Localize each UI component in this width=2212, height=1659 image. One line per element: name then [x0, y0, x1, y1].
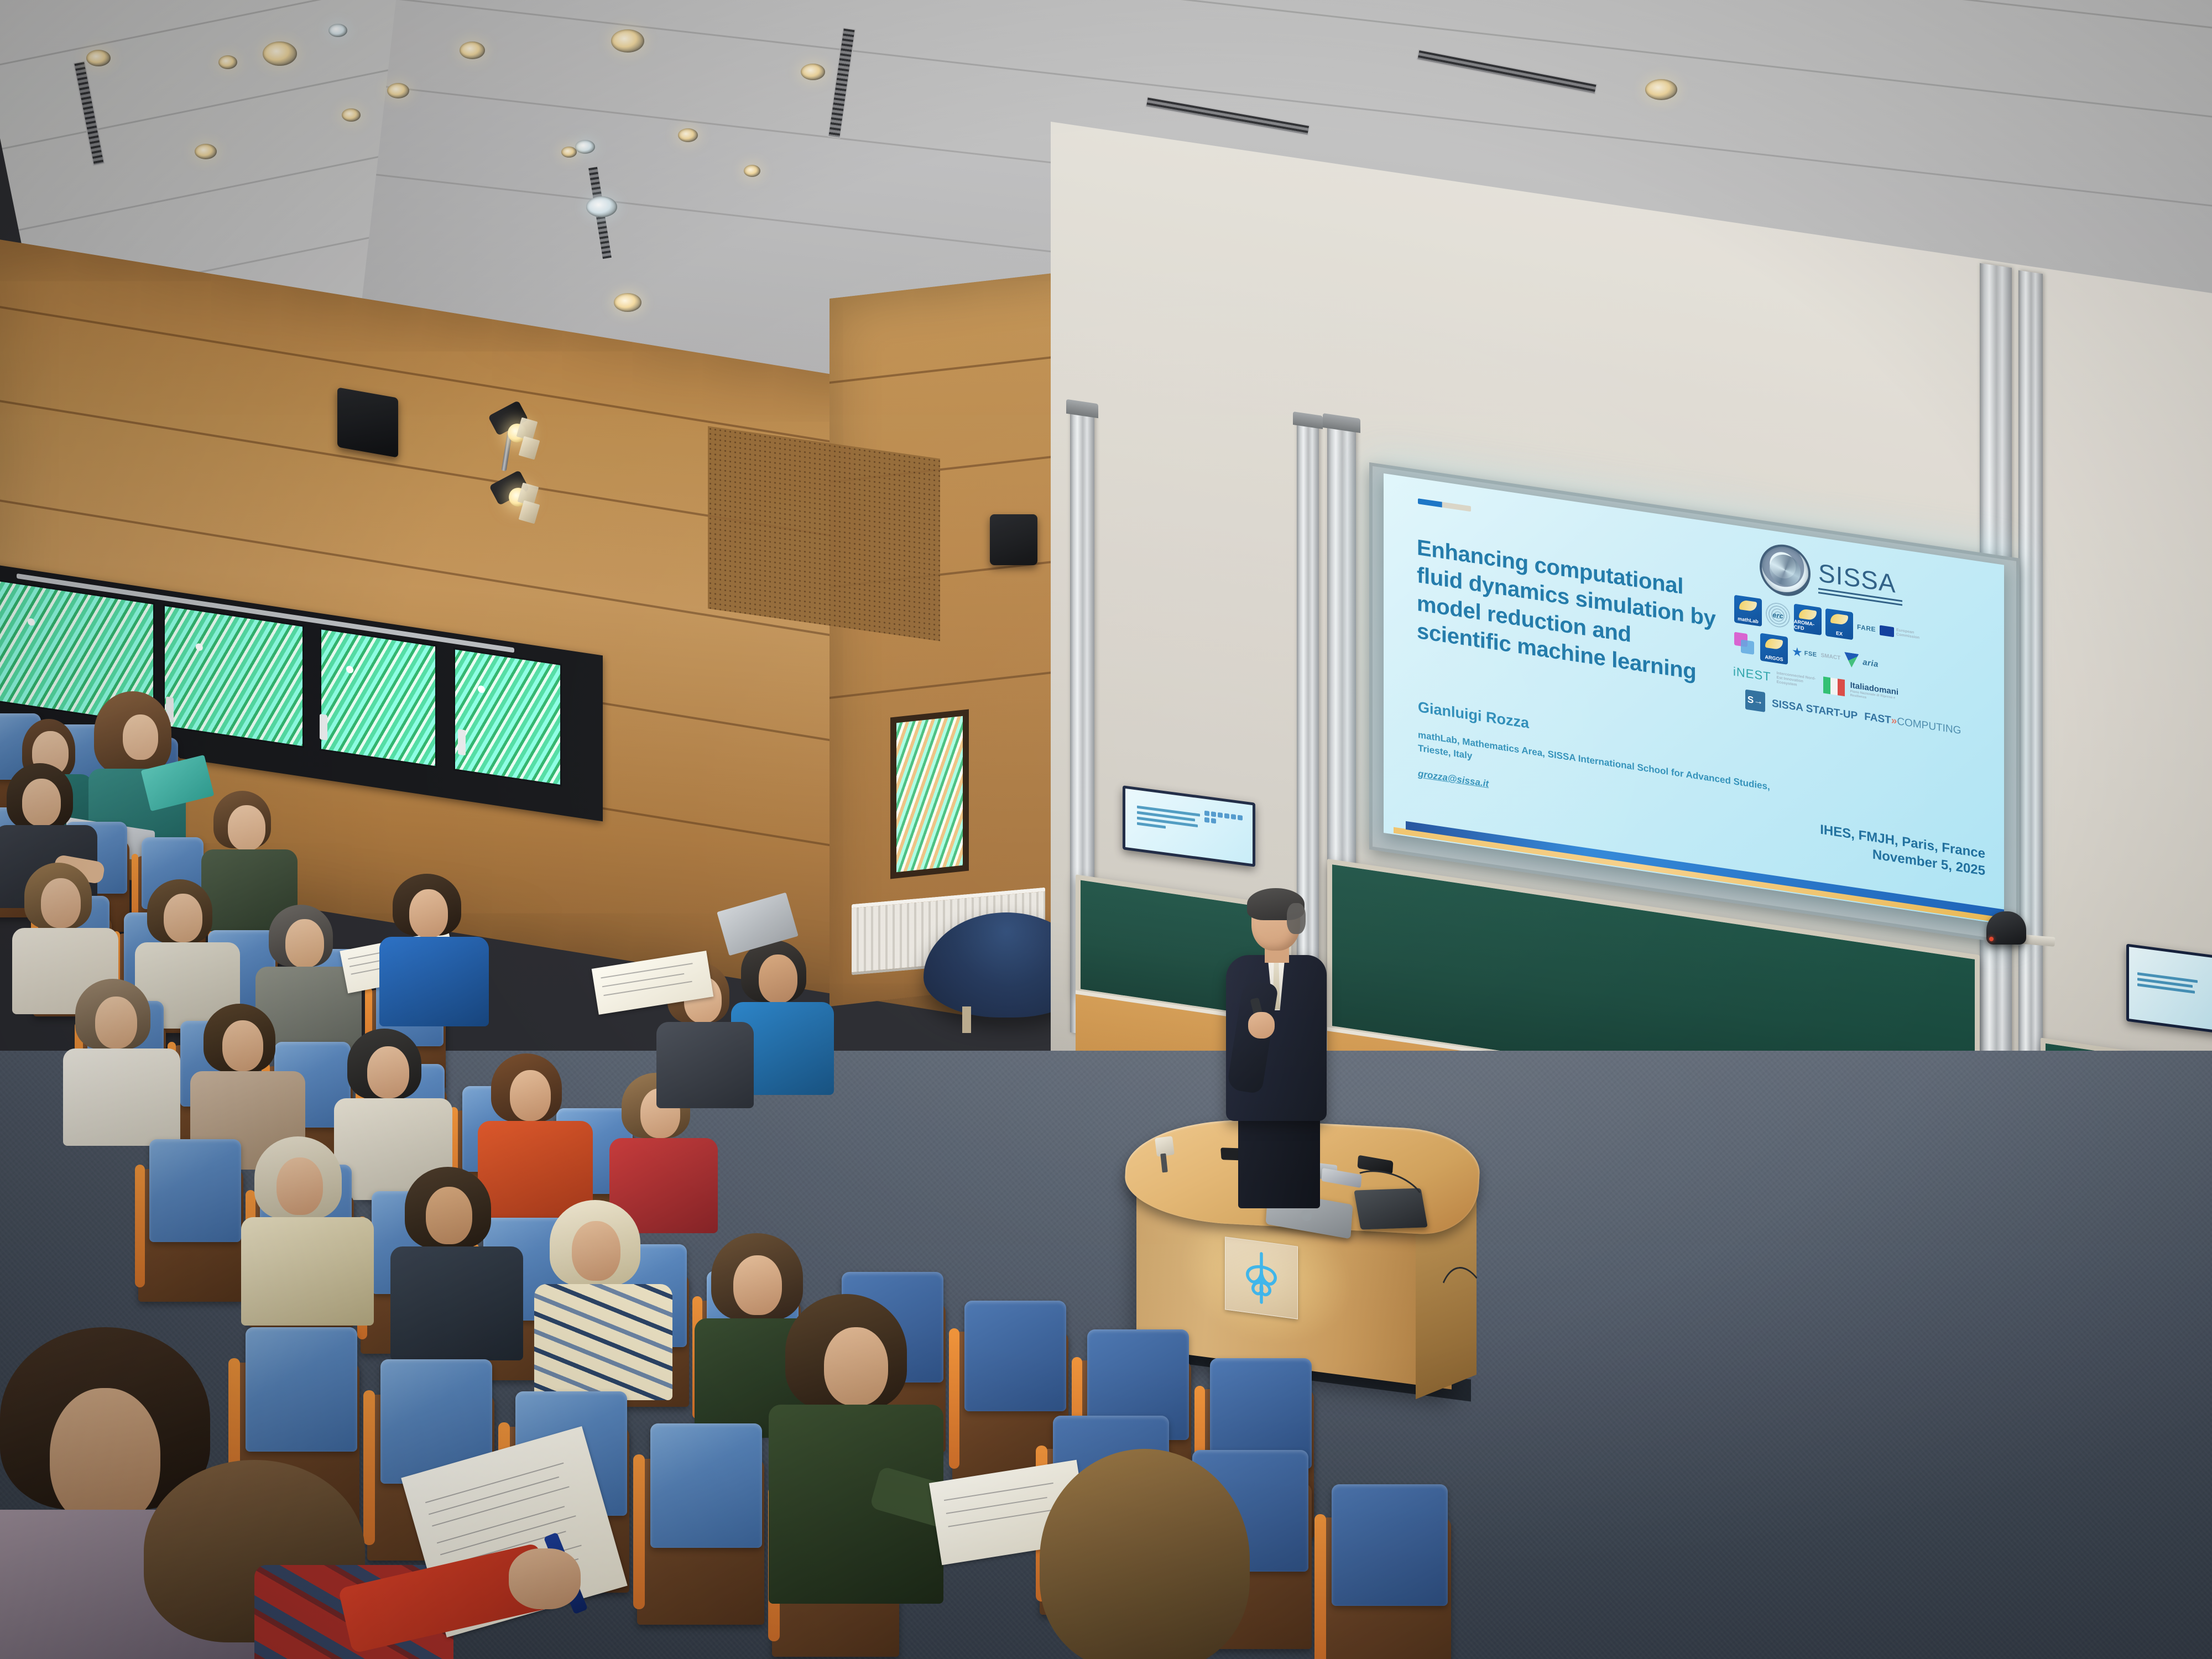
sissa-seal-icon — [1760, 541, 1811, 599]
logo-european-commission: European Commission — [1880, 625, 1926, 641]
logo-aroma-cfd: AROMA-CFD — [1794, 604, 1822, 635]
table-leg — [962, 1006, 971, 1033]
recessed-downlight — [328, 24, 347, 37]
slide-logo-cluster: SISSA mathLab erc AROMA-CFD EX FARE Euro… — [1731, 537, 1991, 746]
audience-member-arm — [343, 1543, 575, 1659]
audience-member-foreground — [763, 1294, 946, 1604]
audience-member — [376, 874, 492, 1029]
logo-sissa-startup: SISSA START-UP — [1772, 698, 1858, 721]
presenter — [1219, 893, 1335, 1203]
mirrored-slide-logos — [1204, 811, 1245, 828]
recessed-downlight — [342, 108, 361, 122]
slide-title: Enhancing computational fluid dynamics s… — [1417, 534, 1726, 691]
recessed-downlight — [1645, 79, 1677, 100]
logo-romsoc — [1734, 632, 1756, 658]
recessed-downlight — [218, 55, 237, 69]
logo-argos: ARGOS — [1760, 633, 1788, 665]
lecture-hall-photo: Enhancing computational fluid dynamics s… — [0, 0, 2212, 1659]
small-window — [890, 709, 969, 879]
logo-erc: erc — [1766, 601, 1790, 629]
audience-member — [387, 1167, 525, 1360]
audience-member — [238, 1136, 376, 1324]
camera-status-led — [1989, 937, 1994, 941]
slide-email[interactable]: grozza@sissa.it — [1418, 768, 1489, 790]
logo-smact: SMACT — [1821, 653, 1841, 662]
confidence-monitor-right — [2126, 943, 2212, 1034]
window-pane — [453, 648, 562, 786]
slide-author: Gianluigi Rozza — [1418, 698, 1529, 732]
recessed-downlight — [801, 64, 825, 80]
fast-chevron-icon: » — [1891, 715, 1897, 728]
wall-speaker — [337, 387, 398, 457]
logo-italiadomani-group: Italiadomani Piano Nazionale di Ripresa … — [1850, 681, 1903, 705]
slide-affiliation: mathLab, Mathematics Area, SISSA Interna… — [1418, 728, 1805, 812]
monitor-screen — [2129, 947, 2212, 1031]
eu-label: European Commission — [1896, 628, 1926, 641]
sissa-wordmark-group: SISSA — [1818, 561, 1902, 602]
recessed-downlight — [561, 147, 577, 158]
recessed-downlight — [387, 83, 409, 98]
recessed-downlight — [263, 41, 297, 66]
recessed-downlight — [460, 41, 485, 59]
presenter-legs — [1238, 1110, 1320, 1208]
logo-fare: FARE — [1857, 623, 1876, 633]
slide-accent-bar — [1418, 498, 1471, 512]
mirrored-slide-text — [2137, 972, 2203, 998]
logo-mathlab: mathLab — [1734, 595, 1762, 627]
recessed-downlight — [744, 165, 760, 177]
ihes-trefoil-knot-icon — [1235, 1247, 1287, 1309]
star-icon: ★ — [1792, 644, 1803, 660]
recessed-downlight — [586, 196, 617, 217]
audience-member-foreground — [1029, 1449, 1261, 1659]
window-pane — [320, 628, 437, 768]
recessed-downlight — [678, 128, 698, 142]
mirrored-slide-text — [1137, 805, 1203, 836]
recessed-downlight — [611, 29, 644, 53]
sissa-wordmark: SISSA — [1818, 561, 1902, 597]
wall-speaker — [990, 514, 1037, 565]
presenter-hair-side — [1287, 903, 1306, 934]
italiadomani-flag-icon — [1823, 676, 1845, 696]
logo-chevron-icon — [1844, 652, 1859, 669]
inest-tagline: Interconnected Nord-Est Innovation Ecosy… — [1777, 671, 1818, 691]
logo-fse: ★ FSE — [1792, 644, 1817, 662]
recessed-downlight — [86, 50, 111, 66]
logo-ex: EX — [1825, 608, 1853, 640]
acoustic-panel — [708, 426, 940, 641]
recessed-downlight — [614, 293, 641, 312]
sissa-startup-mark-icon: S→ — [1745, 690, 1765, 712]
audience-member — [531, 1200, 675, 1399]
slide-venue-date: IHES, FMJH, Paris, France November 5, 20… — [1820, 821, 1985, 880]
podium-plaque — [1225, 1237, 1298, 1319]
presenter-hand — [1248, 1012, 1275, 1039]
recessed-downlight — [195, 144, 217, 159]
recessed-downlight — [575, 140, 595, 154]
logo-aria: aria — [1863, 657, 1879, 669]
audience-member — [61, 979, 182, 1145]
fse-label: FSE — [1804, 650, 1817, 658]
logo-inest: iNEST — [1733, 664, 1771, 684]
logo-fast-computing: FAST»COMPUTING — [1864, 711, 1961, 738]
